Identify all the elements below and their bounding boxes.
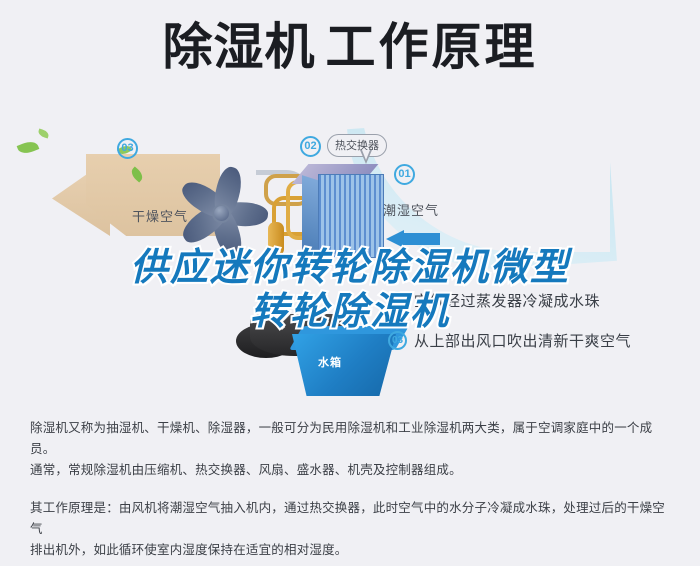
compressor-cylinder <box>268 222 284 256</box>
air-inflow-arrow <box>386 230 440 248</box>
description-paragraph-1: 除湿机又称为抽湿机、干燥机、除湿器，一般可分为民用除湿机和工业除湿机两大类，属于… <box>30 418 672 481</box>
diagram-legend: 02 空气经过蒸发器冷凝成水珠 03 从上部出风口吹出清新干爽空气 <box>388 290 688 370</box>
legend-badge-icon: 02 <box>388 291 407 310</box>
description-p2-line1: 其工作原理是：由风机将潮湿空气抽入机内，通过热交换器，此时空气中的水分子冷凝成水… <box>30 501 665 536</box>
page-title: 除湿机工作原理 <box>0 22 700 72</box>
air-inflow-arrow-bar <box>402 233 440 245</box>
humid-air-label: 潮湿空气 <box>383 200 439 219</box>
leaf-icon <box>37 128 50 138</box>
heat-exchanger-callout: 热交换器 <box>327 134 387 157</box>
legend-item-label: 空气经过蒸发器冷凝成水珠 <box>414 290 600 311</box>
page-title-part-1: 除湿机 <box>163 22 316 72</box>
leaf-icon <box>17 139 40 157</box>
description-p1-line1: 除湿机又称为抽湿机、干燥机、除湿器，一般可分为民用除湿机和工业除湿机两大类，属于… <box>30 421 652 456</box>
legend-item: 02 空气经过蒸发器冷凝成水珠 <box>388 290 688 311</box>
page-root: 除湿机工作原理 <box>0 0 700 566</box>
description-block: 除湿机又称为抽湿机、干燥机、除湿器，一般可分为民用除湿机和工业除湿机两大类，属于… <box>30 418 672 561</box>
description-p1-line2: 通常，常规除湿机由压缩机、热交换器、风扇、盛水器、机壳及控制器组成。 <box>30 463 462 477</box>
fan-hub <box>212 204 231 223</box>
legend-item-label: 从上部出风口吹出清新干爽空气 <box>414 330 631 351</box>
legend-badge-icon: 03 <box>388 331 407 350</box>
callout-badge-01: 01 <box>394 164 415 185</box>
heat-exchanger-fins <box>318 174 384 258</box>
description-p2-line2: 排出机外，如此循环使室内湿度保持在适宜的相对湿度。 <box>30 543 348 557</box>
page-title-part-2: 工作原理 <box>326 22 538 72</box>
callout-badge-03: 03 <box>117 138 138 159</box>
callout-badge-02: 02 <box>300 136 321 157</box>
legend-item: 03 从上部出风口吹出清新干爽空气 <box>388 330 688 351</box>
heat-exchanger-callout-tail <box>360 150 372 164</box>
air-inflow-arrow-tip <box>386 230 404 248</box>
water-tank-label: 水箱 <box>318 354 342 370</box>
dry-air-label: 干燥空气 <box>132 206 188 225</box>
description-paragraph-2: 其工作原理是：由风机将潮湿空气抽入机内，通过热交换器，此时空气中的水分子冷凝成水… <box>30 498 672 561</box>
water-tank-body <box>292 334 396 396</box>
